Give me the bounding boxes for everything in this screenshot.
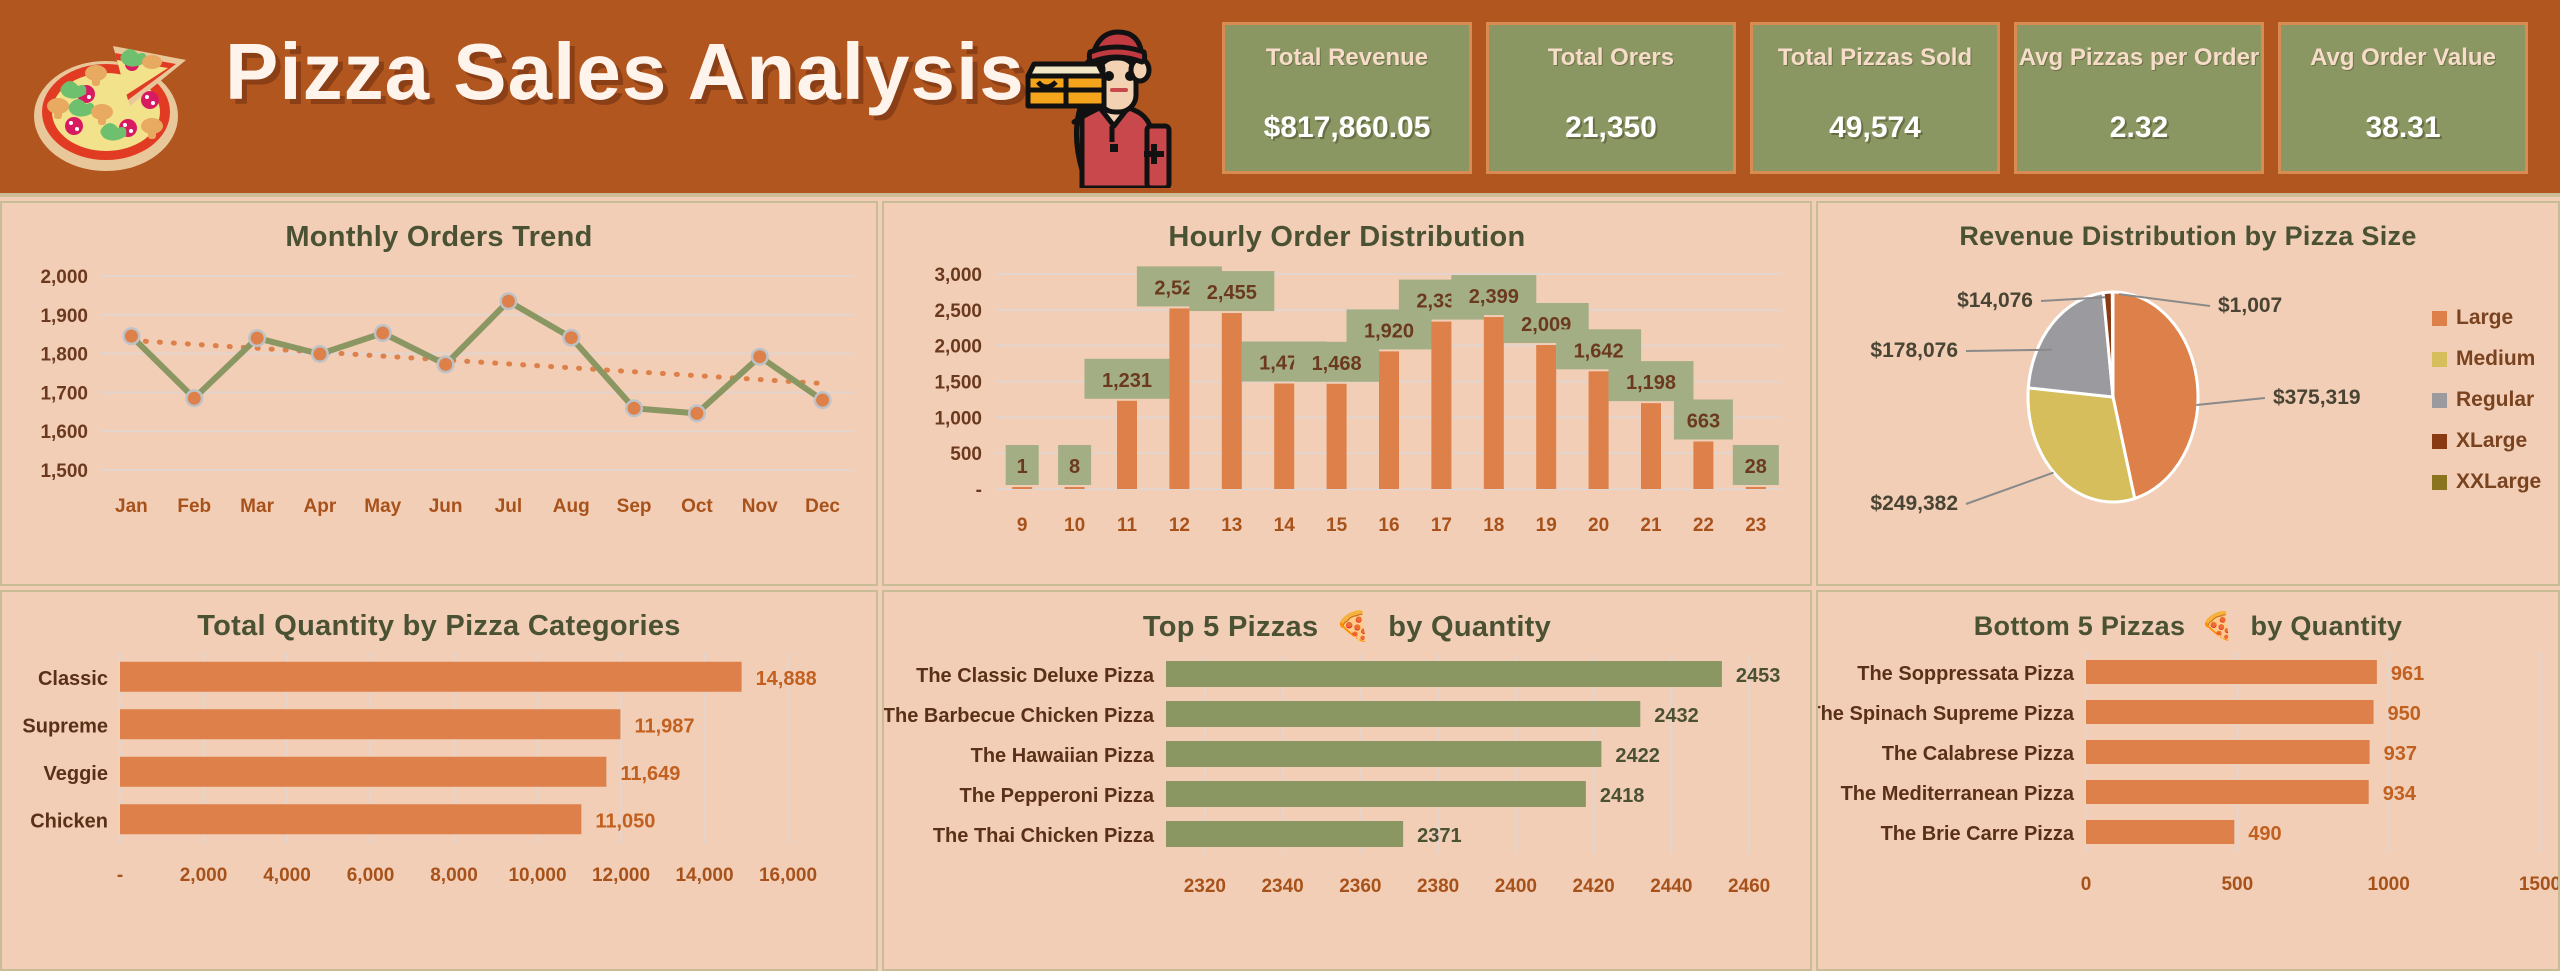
panel-revenue-distribution-by-pizza-size[interactable]: Revenue Distribution by Pizza Size $375,… [1816, 201, 2560, 586]
kpi-value: 21,350 [1565, 111, 1657, 145]
x-axis-tick: 2420 [1572, 876, 1614, 897]
data-label: 2432 [1654, 705, 1699, 727]
legend-label: Large [2456, 306, 2513, 329]
bar [2086, 820, 2234, 844]
data-point [690, 407, 703, 420]
kpi-value: 49,574 [1829, 111, 1921, 145]
y-axis-tick: - [976, 480, 982, 501]
top5-title-after: by Quantity [1388, 611, 1551, 643]
x-axis-tick: 10 [1064, 515, 1085, 536]
x-axis-tick: 23 [1745, 515, 1766, 536]
chart-title-hourly-order-distribution: Hourly Order Distribution [884, 221, 1810, 254]
chart-revenue-distribution-pie[interactable]: $375,319$249,382$178,076$14,076$1,007Lar… [1818, 252, 2558, 557]
category-label: Classic [38, 668, 108, 690]
data-label: 2418 [1600, 785, 1645, 807]
bar [1431, 322, 1451, 489]
pie-value-label: $249,382 [1870, 492, 1958, 515]
bar [2086, 660, 2377, 684]
x-axis-tick: 14 [1274, 515, 1296, 536]
panel-bottom-5-pizzas[interactable]: Bottom 5 Pizzas 🍕 by Quantity 0500100015… [1816, 590, 2560, 971]
x-axis-tick: Mar [240, 496, 274, 517]
dashboard-root: Pizza Sales Analysis [0, 0, 2560, 971]
pizza-delivery-man-icon [1020, 8, 1200, 188]
category-label: The Brie Carre Pizza [1881, 823, 2075, 845]
x-axis-tick: 1000 [2368, 874, 2410, 895]
pizza-slice-icon: 🍕 [1327, 611, 1380, 643]
category-label: The Mediterranean Pizza [1841, 783, 2075, 805]
x-axis-tick: 16,000 [759, 865, 817, 886]
bar [2086, 700, 2374, 724]
bar [120, 662, 742, 692]
kpi-label: Total Revenue [1266, 45, 1428, 71]
top5-title-before: Top 5 Pizzas [1143, 611, 1319, 643]
data-point [125, 330, 138, 343]
data-label: 934 [2383, 783, 2417, 805]
bar [1484, 317, 1504, 489]
x-axis-tick: 20 [1588, 515, 1609, 536]
y-axis-tick: 2,000 [40, 267, 88, 288]
data-point [816, 394, 829, 407]
x-axis-tick: 2440 [1650, 876, 1692, 897]
bar [1536, 345, 1556, 489]
pie-value-label: $178,076 [1870, 339, 1958, 362]
x-axis-tick: Oct [681, 496, 713, 517]
x-axis-tick: 12,000 [592, 865, 650, 886]
kpi-card-avg-pizzas-per-order[interactable]: Avg Pizzas per Order 2.32 [2014, 22, 2264, 174]
x-axis-tick: 2460 [1728, 876, 1770, 897]
x-axis-tick: 12 [1169, 515, 1190, 536]
data-label: 937 [2384, 743, 2417, 765]
pie-leader-line [1966, 473, 2054, 504]
bar [1589, 371, 1609, 489]
data-label: 11,050 [595, 810, 655, 832]
x-axis-tick: 9 [1017, 515, 1028, 536]
y-axis-tick: 1,500 [934, 373, 982, 394]
chart-monthly-orders-trend[interactable]: 1,5001,6001,7001,8001,9002,000JanFebMarA… [2, 254, 876, 554]
data-point [376, 327, 389, 340]
data-label: 1 [1017, 456, 1028, 478]
x-axis-tick: Aug [553, 496, 590, 517]
chart-title-monthly-orders-trend: Monthly Orders Trend [2, 221, 876, 254]
bar [1274, 384, 1294, 489]
chart-total-quantity-by-categories[interactable]: -2,0004,0006,0008,00010,00012,00014,0001… [2, 643, 876, 943]
legend-label: Medium [2456, 347, 2535, 370]
bar [120, 709, 620, 739]
bar [1166, 781, 1586, 807]
category-label: The Spinach Supreme Pizza [1818, 703, 2075, 725]
legend-label: XLarge [2456, 429, 2527, 452]
x-axis-tick: 500 [2221, 874, 2253, 895]
pie-value-label: $14,076 [1957, 289, 2033, 312]
kpi-card-avg-order-value[interactable]: Avg Order Value 38.31 [2278, 22, 2528, 174]
legend-swatch [2432, 475, 2447, 490]
x-axis-tick: Jan [115, 496, 148, 517]
bar [1746, 487, 1766, 489]
y-axis-tick: 1,900 [40, 306, 88, 327]
bar [1379, 351, 1399, 489]
data-label: 1,231 [1102, 370, 1152, 392]
data-label: 950 [2388, 703, 2421, 725]
x-axis-tick: 18 [1483, 515, 1504, 536]
x-axis-tick: 19 [1536, 515, 1557, 536]
chart-top-5-pizzas[interactable]: 23202340236023802400242024402460The Clas… [884, 644, 1810, 944]
legend-swatch [2432, 352, 2447, 367]
y-axis-tick: 1,800 [40, 345, 88, 366]
y-axis-tick: 2,500 [934, 301, 982, 322]
pie-slice [2028, 293, 2113, 397]
x-axis-tick: 2400 [1495, 876, 1537, 897]
panel-total-quantity-by-pizza-categories[interactable]: Total Quantity by Pizza Categories -2,00… [0, 590, 878, 971]
data-point [313, 347, 326, 360]
data-point [628, 402, 641, 415]
y-axis-tick: 3,000 [934, 265, 982, 286]
data-label: 1,920 [1364, 320, 1414, 342]
x-axis-tick: 2320 [1184, 876, 1226, 897]
category-label: The Barbecue Chicken Pizza [884, 705, 1155, 727]
data-label: 14,888 [756, 668, 817, 690]
category-label: Chicken [30, 810, 108, 832]
kpi-card-total-revenue[interactable]: Total Revenue $817,860.05 [1222, 22, 1472, 174]
y-axis-tick: 1,000 [934, 408, 982, 429]
data-label: 1,468 [1312, 353, 1362, 375]
data-label: 2371 [1417, 825, 1462, 847]
x-axis-tick: 16 [1378, 515, 1399, 536]
x-axis-tick: 21 [1640, 515, 1662, 536]
data-label: 1,642 [1574, 340, 1624, 362]
legend-swatch [2432, 311, 2447, 326]
x-axis-tick: 11 [1117, 515, 1138, 536]
pie-value-label: $1,007 [2218, 294, 2282, 317]
category-label: The Thai Chicken Pizza [933, 825, 1155, 847]
category-label: Veggie [44, 763, 108, 785]
data-label: 8 [1069, 456, 1080, 478]
x-axis-tick: 10,000 [508, 865, 566, 886]
data-point [565, 331, 578, 344]
pizza-with-slice-icon [18, 8, 198, 188]
category-label: The Soppressata Pizza [1857, 663, 2075, 685]
bar [1169, 308, 1189, 489]
bar [120, 757, 606, 787]
y-axis-tick: 1,500 [40, 461, 88, 482]
x-axis-tick: 2380 [1417, 876, 1459, 897]
bar [2086, 780, 2369, 804]
pie-slice [2112, 292, 2113, 397]
y-axis-tick: 500 [950, 444, 982, 465]
category-label: The Pepperoni Pizza [960, 785, 1155, 807]
category-label: The Hawaiian Pizza [971, 745, 1155, 767]
x-axis-tick: Jun [429, 496, 463, 517]
legend-label: Regular [2456, 388, 2534, 411]
x-axis-tick: 6,000 [347, 865, 395, 886]
panel-top-5-pizzas[interactable]: Top 5 Pizzas 🍕 by Quantity 2320234023602… [882, 590, 1812, 971]
x-axis-tick: 1500 [2519, 874, 2558, 895]
data-point [188, 392, 201, 405]
y-axis-tick: 1,600 [40, 422, 88, 443]
data-label: 1,198 [1626, 372, 1676, 394]
bar [1117, 401, 1137, 489]
x-axis-tick: - [117, 865, 123, 886]
x-axis-tick: 0 [2081, 874, 2092, 895]
category-label: Supreme [22, 715, 108, 737]
x-axis-tick: Sep [617, 496, 652, 517]
x-axis-tick: 8,000 [430, 865, 478, 886]
panel-hourly-order-distribution[interactable]: Hourly Order Distribution -5001,0001,500… [882, 201, 1812, 586]
x-axis-tick: 13 [1221, 515, 1242, 536]
data-point [753, 350, 766, 363]
data-label: 2422 [1615, 745, 1660, 767]
chart-bottom-5-pizzas[interactable]: 050010001500The Soppressata Pizza961The … [1818, 642, 2558, 942]
bar [120, 804, 581, 834]
bar [1012, 487, 1032, 489]
kpi-label: Avg Order Value [2310, 45, 2496, 71]
pizza-slice-icon: 🍕 [2193, 611, 2243, 641]
x-axis-tick: 17 [1431, 515, 1452, 536]
bar [1327, 384, 1347, 489]
category-label: The Calabrese Pizza [1882, 743, 2075, 765]
chart-title-top-5-pizzas: Top 5 Pizzas 🍕 by Quantity [884, 610, 1810, 644]
bottom5-title-before: Bottom 5 Pizzas [1974, 611, 2186, 641]
bar [1166, 741, 1601, 767]
data-label: 2,455 [1207, 282, 1257, 304]
x-axis-tick: 15 [1326, 515, 1348, 536]
x-axis-tick: 14,000 [675, 865, 733, 886]
chart-hourly-order-distribution[interactable]: -5001,0001,5002,0002,5003,000198101,2311… [884, 254, 1810, 559]
chart-title-bottom-5-pizzas: Bottom 5 Pizzas 🍕 by Quantity [1818, 610, 2558, 642]
bar [1166, 821, 1403, 847]
legend-label: XXLarge [2456, 470, 2541, 493]
pie-leader-line [1966, 350, 2052, 351]
kpi-card-row: Total Revenue $817,860.05 Total Orers 21… [1222, 22, 2528, 174]
bar [1222, 313, 1242, 489]
legend-swatch [2432, 393, 2447, 408]
panel-monthly-orders-trend[interactable]: Monthly Orders Trend 1,5001,6001,7001,80… [0, 201, 878, 586]
y-axis-tick: 2,000 [934, 337, 982, 358]
kpi-label: Avg Pizzas per Order [2019, 45, 2260, 71]
x-axis-tick: 2360 [1339, 876, 1381, 897]
y-axis-tick: 1,700 [40, 383, 88, 404]
x-axis-tick: Jul [495, 496, 522, 517]
x-axis-tick: 2340 [1261, 876, 1303, 897]
pie-value-label: $375,319 [2273, 386, 2361, 409]
data-label: 490 [2248, 823, 2281, 845]
bar [1166, 661, 1722, 687]
data-label: 2453 [1736, 665, 1781, 687]
dashboard-header: Pizza Sales Analysis [0, 0, 2560, 197]
kpi-card-total-orders[interactable]: Total Orers 21,350 [1486, 22, 1736, 174]
bar [1693, 441, 1713, 489]
data-label: 11,987 [634, 715, 694, 737]
data-label: 663 [1687, 410, 1720, 432]
kpi-value: 2.32 [2110, 111, 2168, 145]
x-axis-tick: May [364, 496, 401, 517]
kpi-label: Total Pizzas Sold [1778, 45, 1972, 71]
bar [1641, 403, 1661, 489]
data-label: 28 [1745, 456, 1767, 478]
x-axis-tick: 4,000 [263, 865, 311, 886]
kpi-card-total-pizzas-sold[interactable]: Total Pizzas Sold 49,574 [1750, 22, 2000, 174]
data-label: 11,649 [620, 763, 680, 785]
bar [1166, 701, 1640, 727]
data-line [131, 301, 822, 413]
kpi-label: Total Orers [1548, 45, 1674, 71]
x-axis-tick: Apr [304, 496, 337, 517]
pie-leader-line [2196, 398, 2265, 405]
kpi-value: $817,860.05 [1264, 111, 1431, 145]
page-title: Pizza Sales Analysis [225, 26, 1025, 118]
x-axis-tick: Feb [177, 496, 211, 517]
x-axis-tick: Dec [805, 496, 840, 517]
bottom5-title-after: by Quantity [2250, 611, 2402, 641]
data-point [251, 332, 264, 345]
x-axis-tick: 22 [1693, 515, 1714, 536]
chart-title-revenue-distribution: Revenue Distribution by Pizza Size [1818, 221, 2558, 252]
bar [2086, 740, 2370, 764]
chart-title-total-quantity: Total Quantity by Pizza Categories [2, 610, 876, 643]
data-label: 961 [2391, 663, 2424, 685]
x-axis-tick: Nov [742, 496, 778, 517]
kpi-value: 38.31 [2365, 111, 2440, 145]
bar [1065, 487, 1085, 489]
x-axis-tick: 2,000 [180, 865, 228, 886]
legend-swatch [2432, 434, 2447, 449]
data-point [502, 295, 515, 308]
data-point [439, 358, 452, 371]
category-label: The Classic Deluxe Pizza [916, 665, 1155, 687]
